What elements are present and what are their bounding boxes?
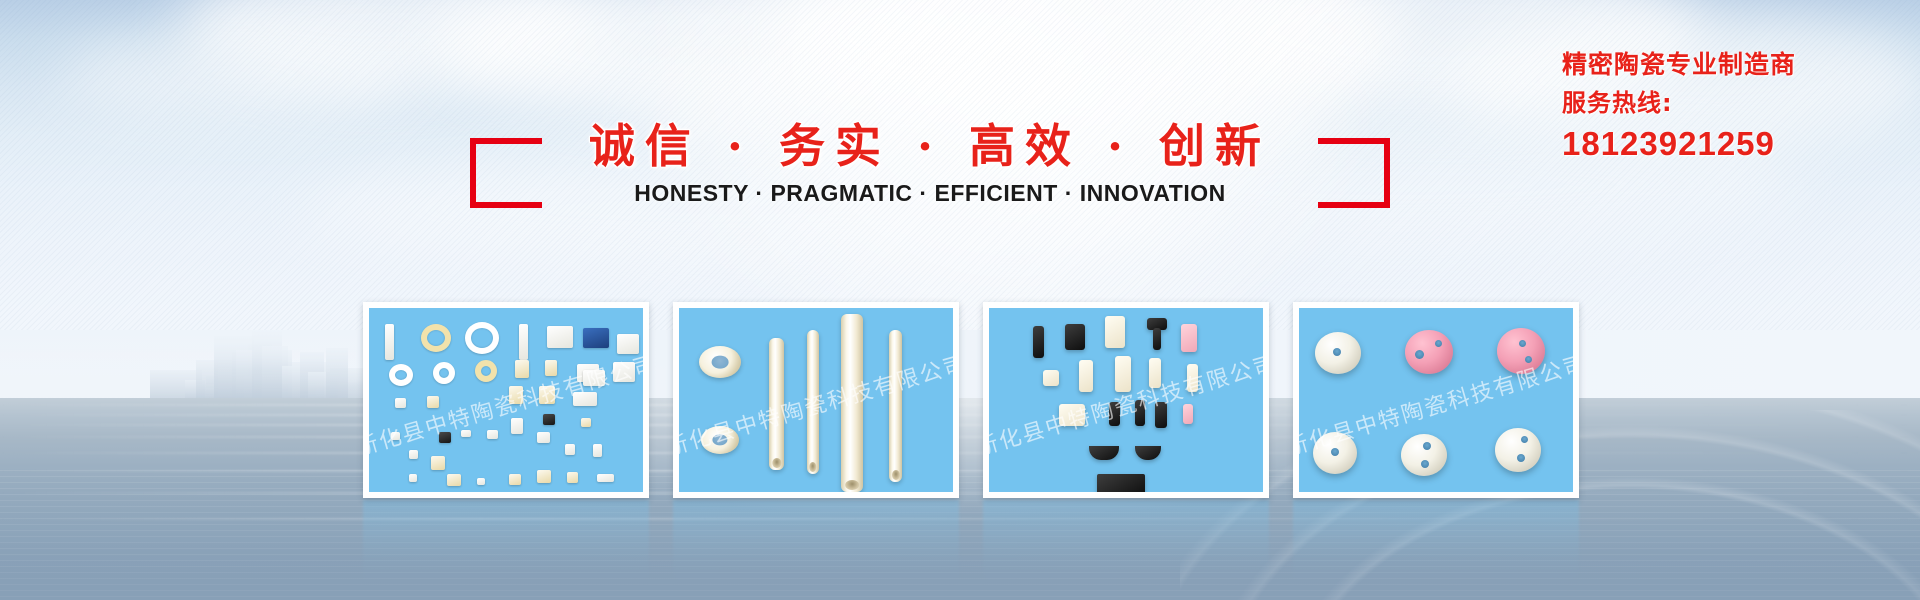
- product-part: [597, 474, 614, 482]
- product-part: [807, 330, 819, 474]
- product-part: [1153, 328, 1161, 350]
- product-part: [409, 450, 418, 459]
- product-part: [617, 334, 639, 354]
- product-part: [509, 474, 521, 485]
- product-part: [519, 324, 528, 360]
- product-part: [1313, 432, 1357, 474]
- product-part: [701, 426, 739, 454]
- product-part: [433, 362, 455, 384]
- product-part: [1105, 316, 1125, 348]
- product-part: [613, 362, 635, 382]
- reflection-mask: [0, 500, 1920, 600]
- product-part: [1115, 356, 1131, 392]
- product-part: [1109, 402, 1120, 426]
- product-part: [477, 478, 485, 485]
- hero-banner: 诚信 · 务实 · 高效 · 创新 HONESTY · PRAGMATIC · …: [0, 0, 1920, 600]
- slogan-chinese: 诚信 · 务实 · 高效 · 创新: [470, 114, 1390, 178]
- product-part: [391, 432, 400, 440]
- product-part: [439, 432, 451, 443]
- product-part: [1135, 400, 1145, 426]
- panel-image-area: 新化县中特陶瓷科技有限公司: [1299, 308, 1573, 492]
- slogan-english: HONESTY · PRAGMATIC · EFFICIENT · INNOVA…: [470, 180, 1390, 207]
- product-part: [841, 314, 863, 492]
- product-part: [573, 392, 597, 406]
- product-part: [1043, 370, 1059, 386]
- product-part: [539, 386, 555, 404]
- product-part: [547, 326, 573, 348]
- product-part: [593, 444, 602, 457]
- product-part: [475, 360, 497, 382]
- contact-block: 精密陶瓷专业制造商 服务热线: 18123921259: [1562, 48, 1892, 164]
- product-part: [567, 472, 578, 483]
- product-part: [565, 444, 575, 455]
- product-part: [1079, 360, 1093, 392]
- product-part: [487, 430, 498, 439]
- product-part: [511, 418, 523, 434]
- hotline-number[interactable]: 18123921259: [1562, 124, 1892, 164]
- product-part: [389, 364, 413, 386]
- product-part: [395, 398, 406, 408]
- company-tagline: 精密陶瓷专业制造商: [1562, 48, 1892, 82]
- product-part: [1155, 402, 1167, 428]
- panel-image-area: 新化县中特陶瓷科技有限公司: [369, 308, 643, 492]
- product-part: [1097, 474, 1145, 492]
- product-part: [1495, 428, 1541, 472]
- product-part: [1401, 434, 1447, 476]
- product-part: [447, 474, 461, 486]
- product-part: [581, 418, 591, 427]
- panel-image-area: 新化县中特陶瓷科技有限公司: [989, 308, 1263, 492]
- product-part: [421, 324, 451, 352]
- product-part: [769, 338, 784, 470]
- hotline-label: 服务热线:: [1562, 82, 1892, 124]
- product-part: [409, 474, 417, 482]
- product-part: [537, 470, 551, 483]
- product-part: [1497, 328, 1545, 374]
- product-part: [509, 386, 523, 404]
- product-panel-smd-chip-components[interactable]: 新化县中特陶瓷科技有限公司: [363, 302, 649, 498]
- product-part: [1405, 330, 1453, 374]
- product-part: [545, 360, 557, 376]
- product-panel-ceramic-tubes-and-rings[interactable]: 新化县中特陶瓷科技有限公司: [673, 302, 959, 498]
- product-part: [1181, 324, 1197, 352]
- slogan-block: 诚信 · 务实 · 高效 · 创新 HONESTY · PRAGMATIC · …: [470, 110, 1390, 220]
- product-part: [537, 432, 550, 443]
- product-part: [543, 414, 555, 425]
- product-part: [1187, 364, 1198, 392]
- product-panel-ceramic-blocks-and-blades[interactable]: 新化县中特陶瓷科技有限公司: [983, 302, 1269, 498]
- product-part: [515, 360, 529, 378]
- product-part: [1135, 446, 1161, 460]
- product-part: [1183, 404, 1193, 424]
- product-part: [465, 322, 499, 354]
- product-part: [1315, 332, 1361, 374]
- product-part: [1089, 446, 1119, 460]
- product-part: [461, 430, 471, 437]
- product-part: [1149, 358, 1161, 388]
- product-part: [583, 370, 605, 386]
- product-part: [1033, 326, 1044, 358]
- product-part: [1059, 404, 1085, 426]
- product-panel-ceramic-discs-and-caps[interactable]: 新化县中特陶瓷科技有限公司: [1293, 302, 1579, 498]
- product-part: [889, 330, 902, 482]
- product-part: [583, 328, 609, 348]
- panel-image-area: 新化县中特陶瓷科技有限公司: [679, 308, 953, 492]
- product-part: [385, 324, 394, 360]
- product-part: [1065, 324, 1085, 350]
- product-part: [427, 396, 439, 408]
- product-part: [699, 346, 741, 378]
- product-part: [431, 456, 445, 470]
- product-panel-row: 新化县中特陶瓷科技有限公司 新化县中特陶瓷科技有限公司: [363, 302, 1585, 498]
